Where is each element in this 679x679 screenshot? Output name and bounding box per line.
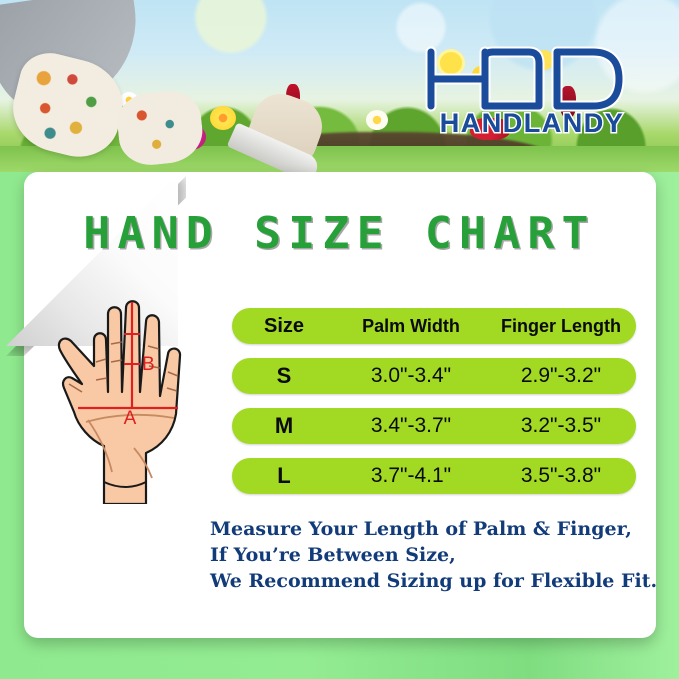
cell-size: S [232, 363, 336, 389]
table-header-row: Size Palm Width Finger Length [232, 308, 636, 344]
svg-text:HANDLANDY: HANDLANDY [440, 108, 625, 136]
hand-measurement-diagram: A B [42, 296, 234, 504]
header-cell-size: Size [232, 315, 336, 338]
cell-palm-width: 3.7"-4.1" [336, 464, 486, 488]
label-a: A [124, 408, 137, 429]
cell-palm-width: 3.0"-3.4" [336, 364, 486, 388]
cell-finger-length: 3.5"-3.8" [486, 464, 636, 488]
header-label-palm-width: Palm Width [362, 316, 460, 336]
size-table: Size Palm Width Finger Length S 3.0"-3.4… [232, 308, 636, 494]
value-finger-length: 3.5"-3.8" [521, 464, 601, 487]
page-title: HAND SIZE CHART [0, 208, 679, 259]
header-label-finger-length: Finger Length [501, 316, 621, 336]
sizing-note: Measure Your Length of Palm & Finger, If… [210, 516, 640, 594]
value-palm-width: 3.4"-3.7" [371, 414, 451, 437]
value-finger-length: 2.9"-3.2" [521, 364, 601, 387]
note-line-2: If You’re Between Size, [210, 542, 640, 568]
hand-outline-icon [59, 301, 180, 504]
cell-palm-width: 3.4"-3.7" [336, 414, 486, 438]
header-label-size: Size [264, 315, 304, 337]
value-palm-width: 3.7"-4.1" [371, 464, 451, 487]
table-row: S 3.0"-3.4" 2.9"-3.2" [232, 358, 636, 394]
cell-size: L [232, 463, 336, 489]
label-b: B [142, 354, 155, 375]
header-cell-palm-width: Palm Width [336, 316, 486, 337]
value-finger-length: 3.2"-3.5" [521, 414, 601, 437]
cell-finger-length: 2.9"-3.2" [486, 364, 636, 388]
flower-white-daisy-2 [366, 110, 388, 130]
note-line-3: We Recommend Sizing up for Flexible Fit. [210, 568, 640, 594]
handlandy-logo: HANDLANDY HANDLANDY [423, 44, 641, 136]
header-cell-finger-length: Finger Length [486, 316, 636, 337]
value-size: S [277, 363, 292, 388]
value-size: L [277, 463, 290, 488]
value-palm-width: 3.0"-3.4" [371, 364, 451, 387]
table-row: L 3.7"-4.1" 3.5"-3.8" [232, 458, 636, 494]
value-size: M [275, 413, 293, 438]
table-row: M 3.4"-3.7" 3.2"-3.5" [232, 408, 636, 444]
cell-finger-length: 3.2"-3.5" [486, 414, 636, 438]
flower-yellow-primrose [210, 106, 236, 130]
size-chart-graphic: HANDLANDY HANDLANDY HAND SIZE CHART [0, 0, 679, 679]
note-line-1: Measure Your Length of Palm & Finger, [210, 516, 640, 542]
cell-size: M [232, 413, 336, 439]
